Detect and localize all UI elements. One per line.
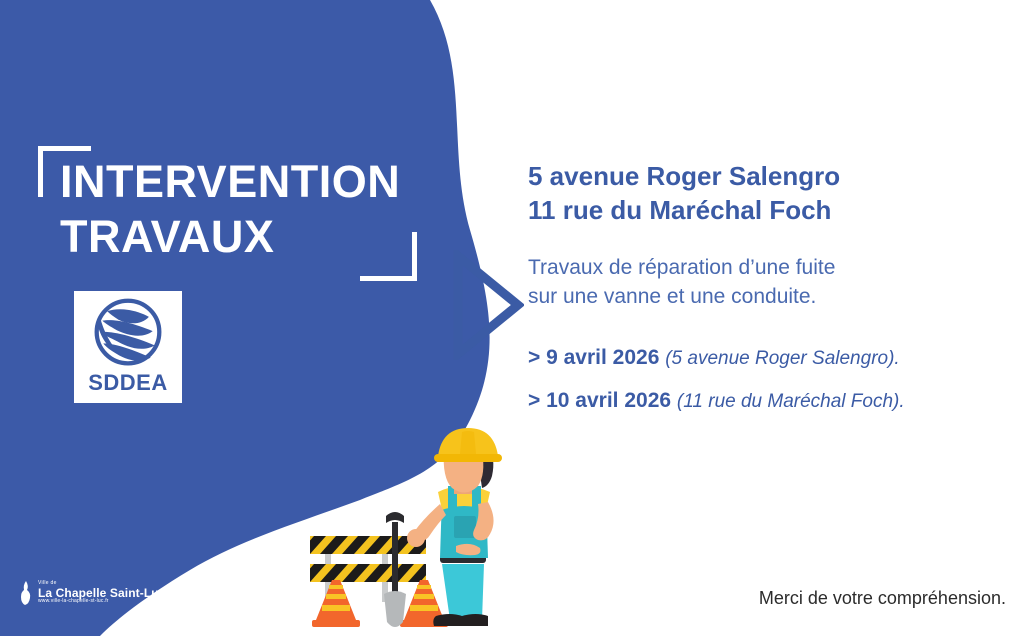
traffic-cone (312, 580, 360, 627)
date-note: (5 avenue Roger Salengro). (665, 348, 899, 369)
description-line-1: Travaux de réparation d’une fuite (528, 254, 998, 283)
date-note: (11 rue du Maréchal Foch). (677, 391, 905, 412)
city-emblem-icon (20, 580, 34, 606)
sddea-logo: SDDEA (74, 291, 182, 403)
city-url: www.ville-la-chapelle-st-luc.fr (38, 599, 165, 604)
address-line-1: 5 avenue Roger Salengro (528, 160, 998, 194)
date-value: 9 avril 2026 (546, 346, 659, 369)
date-value: 10 avril 2026 (546, 389, 671, 412)
construction-worker-illustration (286, 424, 506, 636)
city-logo-text: Ville de La Chapelle Saint-Luc www.ville… (38, 581, 165, 604)
closing-note: Merci de votre compréhension. (759, 588, 1006, 609)
address-heading: 5 avenue Roger Salengro 11 rue du Maréch… (528, 160, 998, 228)
title-line-1: INTERVENTION (60, 155, 460, 210)
poster-root: INTERVENTION TRAVAUX SDDEA 5 avenue Roge… (0, 0, 1024, 636)
date-row: > 10 avril 2026 (11 rue du Maréchal Foch… (528, 387, 998, 415)
sddea-wordmark: SDDEA (88, 372, 168, 394)
address-line-2: 11 rue du Maréchal Foch (528, 194, 998, 228)
water-wave-circle-icon (90, 296, 166, 370)
barrier-plank-bottom (298, 564, 436, 582)
date-marker: > (528, 389, 540, 412)
date-list: > 9 avril 2026 (5 avenue Roger Salengro)… (528, 344, 998, 415)
date-marker: > (528, 346, 540, 369)
poster-title: INTERVENTION TRAVAUX (60, 155, 460, 265)
content-column: 5 avenue Roger Salengro 11 rue du Maréch… (528, 160, 998, 431)
works-description: Travaux de réparation d’une fuite sur un… (528, 254, 998, 312)
date-row: > 9 avril 2026 (5 avenue Roger Salengro)… (528, 344, 998, 372)
title-line-2: TRAVAUX (60, 210, 460, 265)
description-line-2: sur une vanne et une conduite. (528, 283, 998, 312)
chevron-right-outline-icon (452, 250, 524, 360)
city-logo: Ville de La Chapelle Saint-Luc www.ville… (20, 580, 165, 606)
